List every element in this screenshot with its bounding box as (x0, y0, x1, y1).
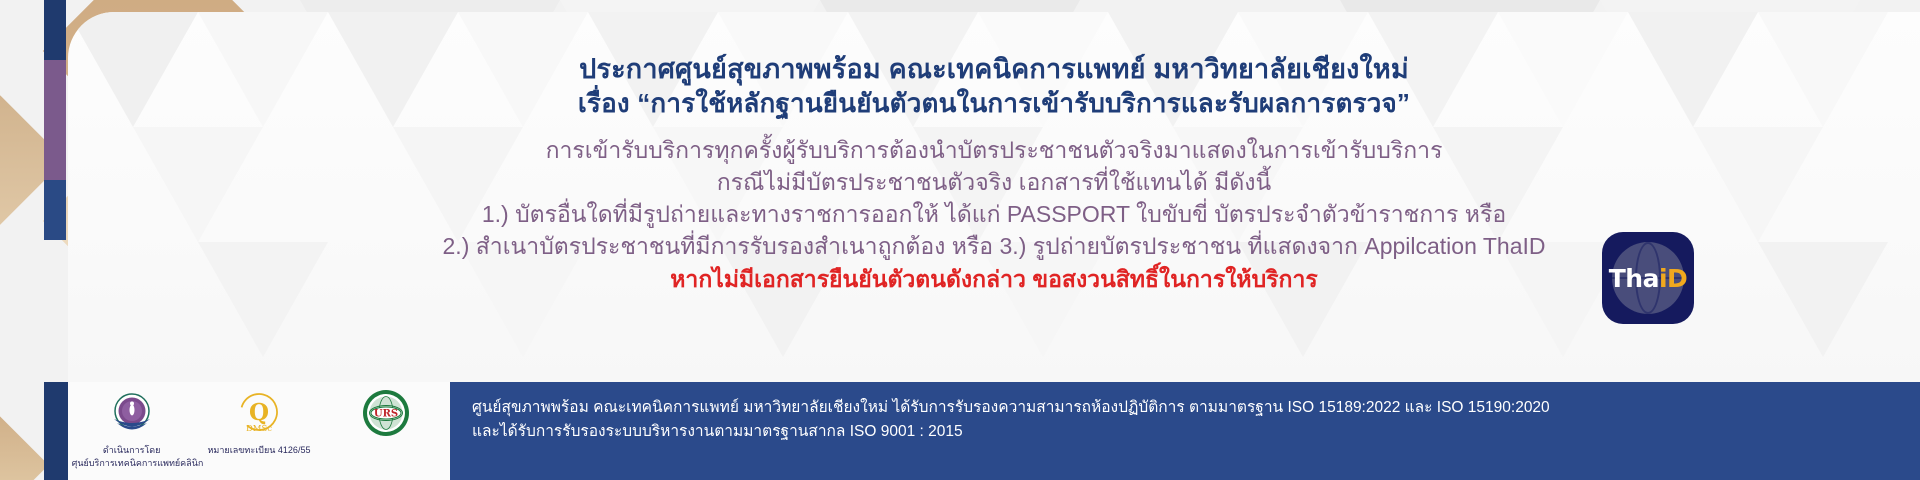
logo-cell-dmsc-clinic: ดำเนินการโดย ศุนย์บริการเทคนิคการแพทย์คล… (72, 388, 192, 470)
thaid-word-primary: Tha (1609, 264, 1659, 293)
dmsc-clinic-caption-2: ศุนย์บริการเทคนิคการแพทย์คลินิก (72, 458, 192, 469)
dmsc-clinic-seal-icon (107, 388, 157, 438)
q-dmsc-quality-seal-icon: Q DMSc (234, 388, 284, 438)
announcement-card: ประกาศศูนย์สุขภาพพร้อม คณะเทคนิคการแพทย์… (68, 12, 1920, 382)
decor-bar-navy-bottom (44, 0, 66, 60)
svg-text:Q: Q (249, 399, 269, 426)
body-line-1: การเข้ารับบริการทุกครั้งผู้รับบริการต้อง… (68, 134, 1920, 166)
thaid-app-icon: ThaiD (1602, 232, 1694, 324)
body-line-2: กรณีไม่มีบัตรประชาชนตัวจริง เอกสารที่ใช้… (68, 166, 1920, 198)
announcement-title-line2: เรื่อง “การใช้หลักฐานยืนยันตัวตนในการเข้… (68, 87, 1920, 120)
svg-text:URS: URS (374, 409, 398, 420)
certification-logos: ดำเนินการโดย ศุนย์บริการเทคนิคการแพทย์คล… (68, 382, 450, 480)
announcement-content: ประกาศศูนย์สุขภาพพร้อม คณะเทคนิคการแพทย์… (68, 12, 1920, 382)
logo-cell-urs-iso9001: URS (326, 388, 446, 445)
decor-bar-footer-navy (44, 382, 68, 480)
q-dmsc-caption-1: หมายเลขทะเบียน 4126/55 (199, 445, 319, 456)
logo-cell-q-dmsc: Q DMSc หมายเลขทะเบียน 4126/55 (199, 388, 319, 456)
body-line-3-option1: 1.) บัตรอื่นใดที่มีรูปถ่ายและทางราชการออ… (68, 198, 1920, 230)
dmsc-clinic-caption-1: ดำเนินการโดย (72, 445, 192, 456)
footer-line-2: และได้รับการรับรองระบบบริหารงานตามมาตรฐา… (472, 420, 1920, 444)
bottom-strip: ดำเนินการโดย ศุนย์บริการเทคนิคการแพทย์คล… (0, 382, 1920, 480)
thaid-wordmark: ThaiD (1609, 264, 1688, 293)
footer-certification-bar: ศูนย์สุขภาพพร้อม คณะเทคนิคการแพทย์ มหาวิ… (450, 382, 1920, 480)
thaid-word-accent: iD (1659, 264, 1687, 293)
announcement-title-line1: ประกาศศูนย์สุขภาพพร้อม คณะเทคนิคการแพทย์… (68, 52, 1920, 87)
footer-line-1: ศูนย์สุขภาพพร้อม คณะเทคนิคการแพทย์ มหาวิ… (472, 396, 1920, 420)
urs-iso9001-seal-icon: URS (361, 388, 411, 438)
svg-text:DMSc: DMSc (246, 424, 272, 434)
